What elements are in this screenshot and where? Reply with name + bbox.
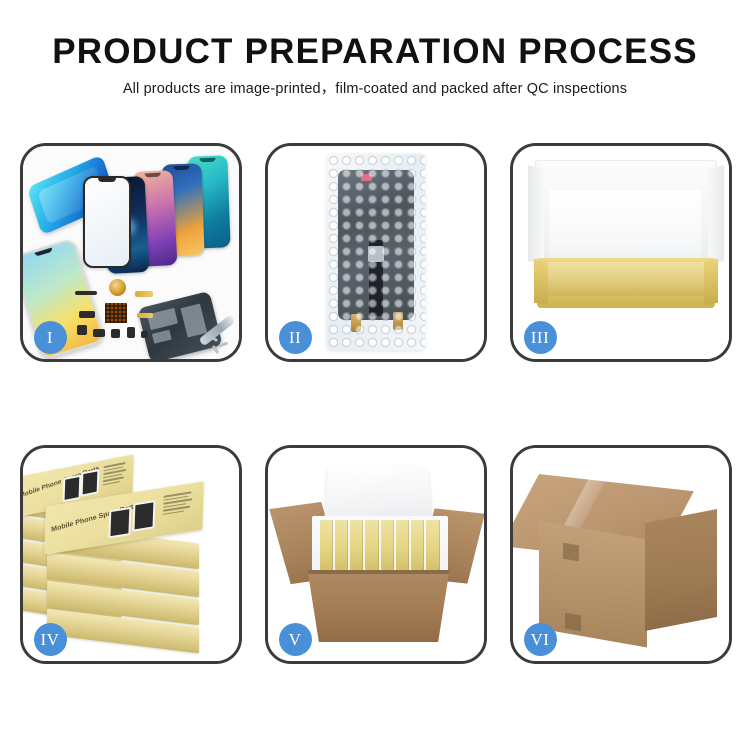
red-label-graphic xyxy=(361,174,372,181)
carton-body-graphic xyxy=(308,570,450,642)
gold-contact-right-graphic xyxy=(393,312,403,330)
carton-highlight-graphic xyxy=(658,464,720,490)
process-step-5: V xyxy=(253,434,498,736)
panel-frame-5: V xyxy=(265,445,487,664)
step-badge-5: V xyxy=(279,623,312,656)
process-step-6: VI xyxy=(498,434,743,736)
page-subtitle: All products are image-printed，film-coat… xyxy=(0,78,750,100)
lcd-connector-graphic xyxy=(368,246,384,262)
process-step-4: Mobile Phone Spare Parts xyxy=(8,434,253,736)
gold-contact-left-graphic xyxy=(351,314,361,332)
step-badge-3: III xyxy=(524,321,557,354)
spare-parts-graphic xyxy=(75,277,185,355)
carton-tab-lower-graphic xyxy=(565,613,581,632)
panel-frame-3: III xyxy=(510,143,732,362)
step-badge-1: I xyxy=(34,321,67,354)
panel-frame-4: Mobile Phone Spare Parts xyxy=(20,445,242,664)
step-badge-2: II xyxy=(279,321,312,354)
page-header: PRODUCT PREPARATION PROCESS All products… xyxy=(0,0,750,100)
process-panel-grid: I II xyxy=(0,132,750,736)
process-step-1: I xyxy=(8,132,253,434)
page-title: PRODUCT PREPARATION PROCESS xyxy=(0,30,750,74)
carton-tab-upper-graphic xyxy=(563,543,579,562)
process-step-2: II xyxy=(253,132,498,434)
screen-protector-graphic xyxy=(83,176,131,268)
carton-front-face-graphic xyxy=(539,520,647,647)
step-badge-4: IV xyxy=(34,623,67,656)
yellow-tray-graphic xyxy=(537,258,715,308)
carton-side-face-graphic xyxy=(645,509,717,631)
yellow-boxes-inside-graphic xyxy=(320,520,440,570)
screws-graphic xyxy=(209,337,235,353)
panel-frame-2: II xyxy=(265,143,487,362)
panel-frame-1: I xyxy=(20,143,242,362)
bubble-wrap-bag-graphic xyxy=(327,154,425,350)
foam-sheet-graphic xyxy=(549,190,701,266)
process-step-3: III xyxy=(498,132,743,434)
step-badge-6: VI xyxy=(524,623,557,656)
panel-frame-6: VI xyxy=(510,445,732,664)
